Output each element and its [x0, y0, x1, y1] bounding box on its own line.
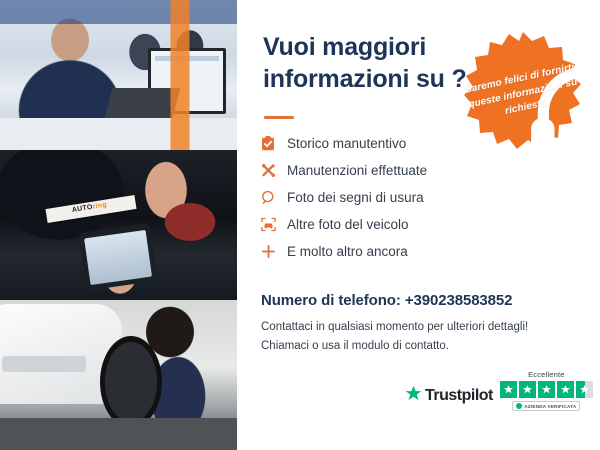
list-item-label: Altre foto del veicolo [287, 217, 409, 232]
star-rating [500, 381, 593, 398]
contact-subtext-line2: Chiamaci o usa il modulo di contatto. [261, 337, 561, 356]
verified-company-badge: AZIENDA VERIFICATA [512, 401, 580, 411]
mechanic-wheel-photo [0, 300, 237, 450]
list-item[interactable]: Storico manutentivo [261, 130, 491, 157]
star-icon [519, 381, 536, 398]
star-icon [500, 381, 517, 398]
star-icon [576, 381, 593, 398]
feature-list: Storico manutentivo Manutenzioni effettu… [261, 130, 491, 265]
car-scan-icon [261, 217, 287, 232]
list-item-label: E molto altro ancora [287, 244, 408, 259]
crossed-tools-icon [261, 163, 287, 178]
laptop-graphic [104, 88, 180, 122]
list-item[interactable]: Foto dei segni di usura [261, 184, 491, 211]
photo-column: AUTOring [0, 0, 237, 450]
rating-word: Eccellente [528, 370, 565, 379]
list-item[interactable]: Manutenzioni effettuate [261, 157, 491, 184]
list-item[interactable]: E molto altro ancora [261, 238, 491, 265]
phone-number[interactable]: Numero di telefono: +390238583852 [261, 292, 512, 309]
verified-check-icon [516, 403, 522, 409]
trustpilot-wordmark: Trustpilot [425, 387, 493, 405]
verified-label: AZIENDA VERIFICATA [524, 404, 576, 409]
contact-subtext-line1: Contattaci in qualsiasi momento per ulte… [261, 318, 561, 337]
tablet-graphic [78, 223, 157, 290]
trustpilot-logo: Trustpilot [405, 385, 493, 411]
trustpilot-star-icon [405, 385, 422, 407]
car-grill-graphic [2, 356, 86, 372]
contact-subtext: Contattaci in qualsiasi momento per ulte… [261, 318, 561, 355]
star-icon [557, 381, 574, 398]
trustpilot-rating: Eccellente [500, 370, 593, 411]
wheel-graphic [100, 336, 162, 428]
list-item-label: Manutenzioni effettuate [287, 163, 427, 178]
star-icon [538, 381, 555, 398]
accent-divider [264, 116, 294, 119]
list-item[interactable]: Altre foto del veicolo [261, 211, 491, 238]
magnifier-icon [261, 190, 287, 205]
trustpilot-badge[interactable]: Trustpilot Eccellente [405, 370, 593, 411]
clipboard-check-icon [261, 136, 287, 151]
content-panel: Vuoi maggiori informazioni su ? Saremo f… [237, 0, 600, 450]
list-item-label: Storico manutentivo [287, 136, 406, 151]
monitor-graphic [148, 48, 226, 114]
plus-icon [261, 244, 287, 259]
list-item-label: Foto dei segni di usura [287, 190, 424, 205]
car-inspection-photo: AUTOring [0, 150, 237, 300]
desk-graphic [0, 118, 237, 150]
promo-banner: AUTOring Vuoi maggiori informazioni su ? [0, 0, 600, 450]
paint-gauge-graphic: AUTOring [45, 195, 136, 223]
page-title: Vuoi maggiori informazioni su ? [263, 32, 478, 95]
garage-floor-graphic [0, 418, 237, 450]
call-center-photo [0, 0, 237, 150]
